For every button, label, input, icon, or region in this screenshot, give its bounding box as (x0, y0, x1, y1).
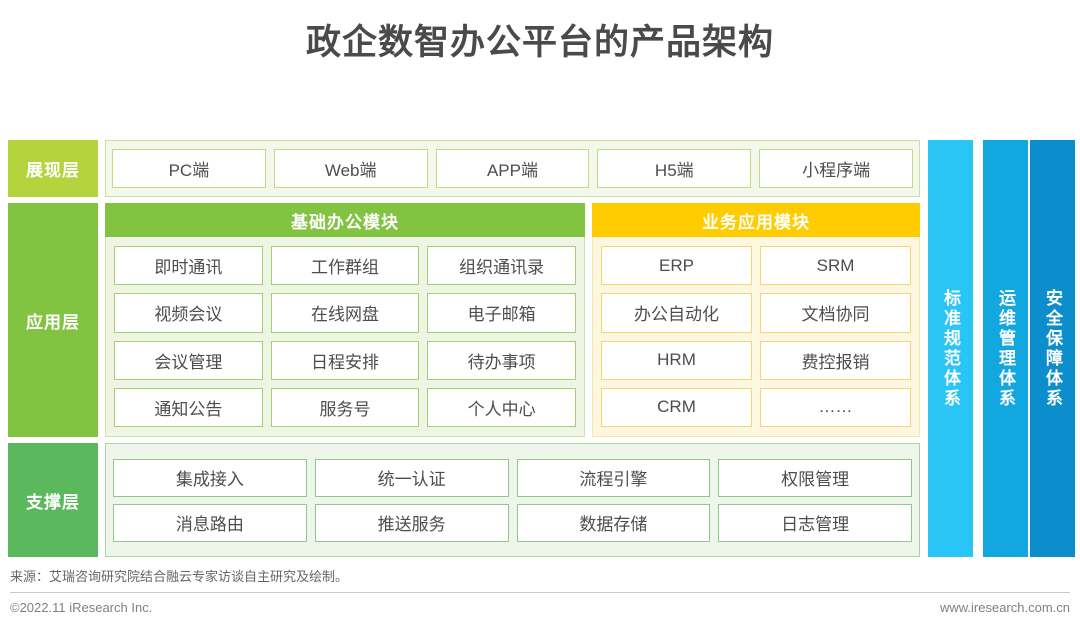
support-cell-label: 数据存储 (579, 510, 647, 535)
module-cell-label: 在线网盘 (311, 300, 379, 325)
support-row: 集成接入 统一认证 流程引擎 权限管理 (113, 459, 912, 497)
module-business-application: 业务应用模块 ERP SRM 办公自动化 文档协同 HRM 费控报销 CRM …… (592, 203, 920, 437)
support-cell-label: 集成接入 (176, 465, 244, 490)
module-basic-office-body: 即时通讯 工作群组 组织通讯录 视频会议 在线网盘 电子邮箱 会议管理 日程安排… (105, 237, 585, 437)
module-business-application-header: 业务应用模块 (592, 203, 920, 237)
page-title: 政企数智办公平台的产品架构 (0, 14, 1080, 65)
module-cell[interactable]: 即时通讯 (114, 246, 263, 285)
source-note: 来源：艾瑞咨询研究院结合融云专家访谈自主研究及绘制。 (10, 566, 348, 585)
module-cell-label: 服务号 (320, 395, 371, 420)
infographic-page: 政企数智办公平台的产品架构 展现层 应用层 支撑层 PC端 Web端 APP端 … (0, 0, 1080, 628)
module-cell[interactable]: SRM (760, 246, 911, 285)
module-cell[interactable]: 待办事项 (427, 341, 576, 380)
module-cell[interactable]: 费控报销 (760, 341, 911, 380)
module-row: CRM …… (601, 388, 911, 427)
module-cell[interactable]: …… (760, 388, 911, 427)
module-row: 办公自动化 文档协同 (601, 293, 911, 332)
module-cell[interactable]: 在线网盘 (271, 293, 420, 332)
system-bar-operations-label: 运维管理体系 (993, 289, 1018, 409)
module-row: 即时通讯 工作群组 组织通讯录 (114, 246, 576, 285)
module-cell-label: …… (819, 397, 853, 417)
module-cell[interactable]: 服务号 (271, 388, 420, 427)
presentation-cell-label: APP端 (487, 156, 538, 181)
module-cell-label: 文档协同 (802, 300, 870, 325)
presentation-cell-label: Web端 (325, 156, 377, 181)
presentation-cell[interactable]: H5端 (597, 149, 751, 188)
support-cell[interactable]: 推送服务 (315, 504, 509, 542)
module-row: ERP SRM (601, 246, 911, 285)
module-cell-label: 待办事项 (468, 348, 536, 373)
support-cell-label: 日志管理 (781, 510, 849, 535)
module-cell-label: ERP (659, 256, 694, 276)
presentation-cell[interactable]: APP端 (436, 149, 590, 188)
support-layer-row: 集成接入 统一认证 流程引擎 权限管理 消息路由 推送服务 数据存储 日志管理 (105, 443, 920, 557)
layer-label-application: 应用层 (8, 203, 98, 437)
module-cell-label: 即时通讯 (154, 253, 222, 278)
module-cell[interactable]: 电子邮箱 (427, 293, 576, 332)
module-cell[interactable]: 文档协同 (760, 293, 911, 332)
footer-divider (10, 592, 1070, 593)
support-cell[interactable]: 权限管理 (718, 459, 912, 497)
support-cell-label: 消息路由 (176, 510, 244, 535)
module-cell-label: 会议管理 (154, 348, 222, 373)
presentation-cell[interactable]: 小程序端 (759, 149, 913, 188)
support-cell[interactable]: 统一认证 (315, 459, 509, 497)
system-bar-security[interactable]: 安全保障体系 (1030, 140, 1075, 557)
module-row: HRM 费控报销 (601, 341, 911, 380)
support-cell[interactable]: 流程引擎 (517, 459, 711, 497)
module-cell[interactable]: 会议管理 (114, 341, 263, 380)
system-bar-standards[interactable]: 标准规范体系 (928, 140, 973, 557)
support-cell[interactable]: 消息路由 (113, 504, 307, 542)
presentation-cell[interactable]: Web端 (274, 149, 428, 188)
support-cell[interactable]: 日志管理 (718, 504, 912, 542)
support-cell[interactable]: 数据存储 (517, 504, 711, 542)
module-row: 会议管理 日程安排 待办事项 (114, 341, 576, 380)
layer-label-application-text: 应用层 (26, 308, 80, 333)
presentation-layer-row: PC端 Web端 APP端 H5端 小程序端 (105, 140, 920, 197)
module-cell-label: HRM (657, 350, 696, 370)
module-business-application-title: 业务应用模块 (702, 208, 810, 233)
module-cell[interactable]: CRM (601, 388, 752, 427)
architecture-diagram: 展现层 应用层 支撑层 PC端 Web端 APP端 H5端 小程序端 (0, 140, 1080, 558)
support-cell-label: 推送服务 (378, 510, 446, 535)
presentation-cell-label: PC端 (169, 156, 210, 181)
module-basic-office-header: 基础办公模块 (105, 203, 585, 237)
module-cell-label: 费控报销 (802, 348, 870, 373)
module-cell-label: 日程安排 (311, 348, 379, 373)
layer-label-presentation: 展现层 (8, 140, 98, 197)
module-cell[interactable]: ERP (601, 246, 752, 285)
module-cell-label: CRM (657, 397, 696, 417)
module-business-application-body: ERP SRM 办公自动化 文档协同 HRM 费控报销 CRM …… (592, 237, 920, 437)
module-cell-label: 视频会议 (154, 300, 222, 325)
module-cell-label: 个人中心 (468, 395, 536, 420)
system-bar-security-label: 安全保障体系 (1040, 289, 1065, 409)
module-cell[interactable]: 工作群组 (271, 246, 420, 285)
support-cell-label: 权限管理 (781, 465, 849, 490)
module-cell-label: 电子邮箱 (468, 300, 536, 325)
website-link[interactable]: www.iresearch.com.cn (940, 600, 1070, 615)
support-cell-label: 流程引擎 (579, 465, 647, 490)
module-cell[interactable]: 视频会议 (114, 293, 263, 332)
module-cell[interactable]: 日程安排 (271, 341, 420, 380)
module-cell-label: SRM (817, 256, 855, 276)
module-cell[interactable]: 办公自动化 (601, 293, 752, 332)
module-row: 通知公告 服务号 个人中心 (114, 388, 576, 427)
copyright-text: ©2022.11 iResearch Inc. (10, 600, 152, 615)
layer-label-support: 支撑层 (8, 443, 98, 557)
presentation-cell-label: 小程序端 (802, 156, 870, 181)
module-cell-label: 办公自动化 (634, 300, 719, 325)
module-cell[interactable]: 通知公告 (114, 388, 263, 427)
system-bar-standards-label: 标准规范体系 (938, 289, 963, 409)
module-cell-label: 通知公告 (154, 395, 222, 420)
presentation-cell-label: H5端 (655, 156, 694, 181)
module-cell[interactable]: 个人中心 (427, 388, 576, 427)
system-bar-operations[interactable]: 运维管理体系 (983, 140, 1028, 557)
layer-label-support-text: 支撑层 (26, 488, 80, 513)
module-basic-office: 基础办公模块 即时通讯 工作群组 组织通讯录 视频会议 在线网盘 电子邮箱 会议… (105, 203, 585, 437)
layer-label-presentation-text: 展现层 (26, 156, 80, 181)
module-cell[interactable]: HRM (601, 341, 752, 380)
module-cell-label: 组织通讯录 (459, 253, 544, 278)
support-cell-label: 统一认证 (378, 465, 446, 490)
module-cell-label: 工作群组 (311, 253, 379, 278)
module-basic-office-title: 基础办公模块 (291, 208, 399, 233)
module-row: 视频会议 在线网盘 电子邮箱 (114, 293, 576, 332)
support-cell[interactable]: 集成接入 (113, 459, 307, 497)
module-cell[interactable]: 组织通讯录 (427, 246, 576, 285)
presentation-cell[interactable]: PC端 (112, 149, 266, 188)
support-row: 消息路由 推送服务 数据存储 日志管理 (113, 504, 912, 542)
